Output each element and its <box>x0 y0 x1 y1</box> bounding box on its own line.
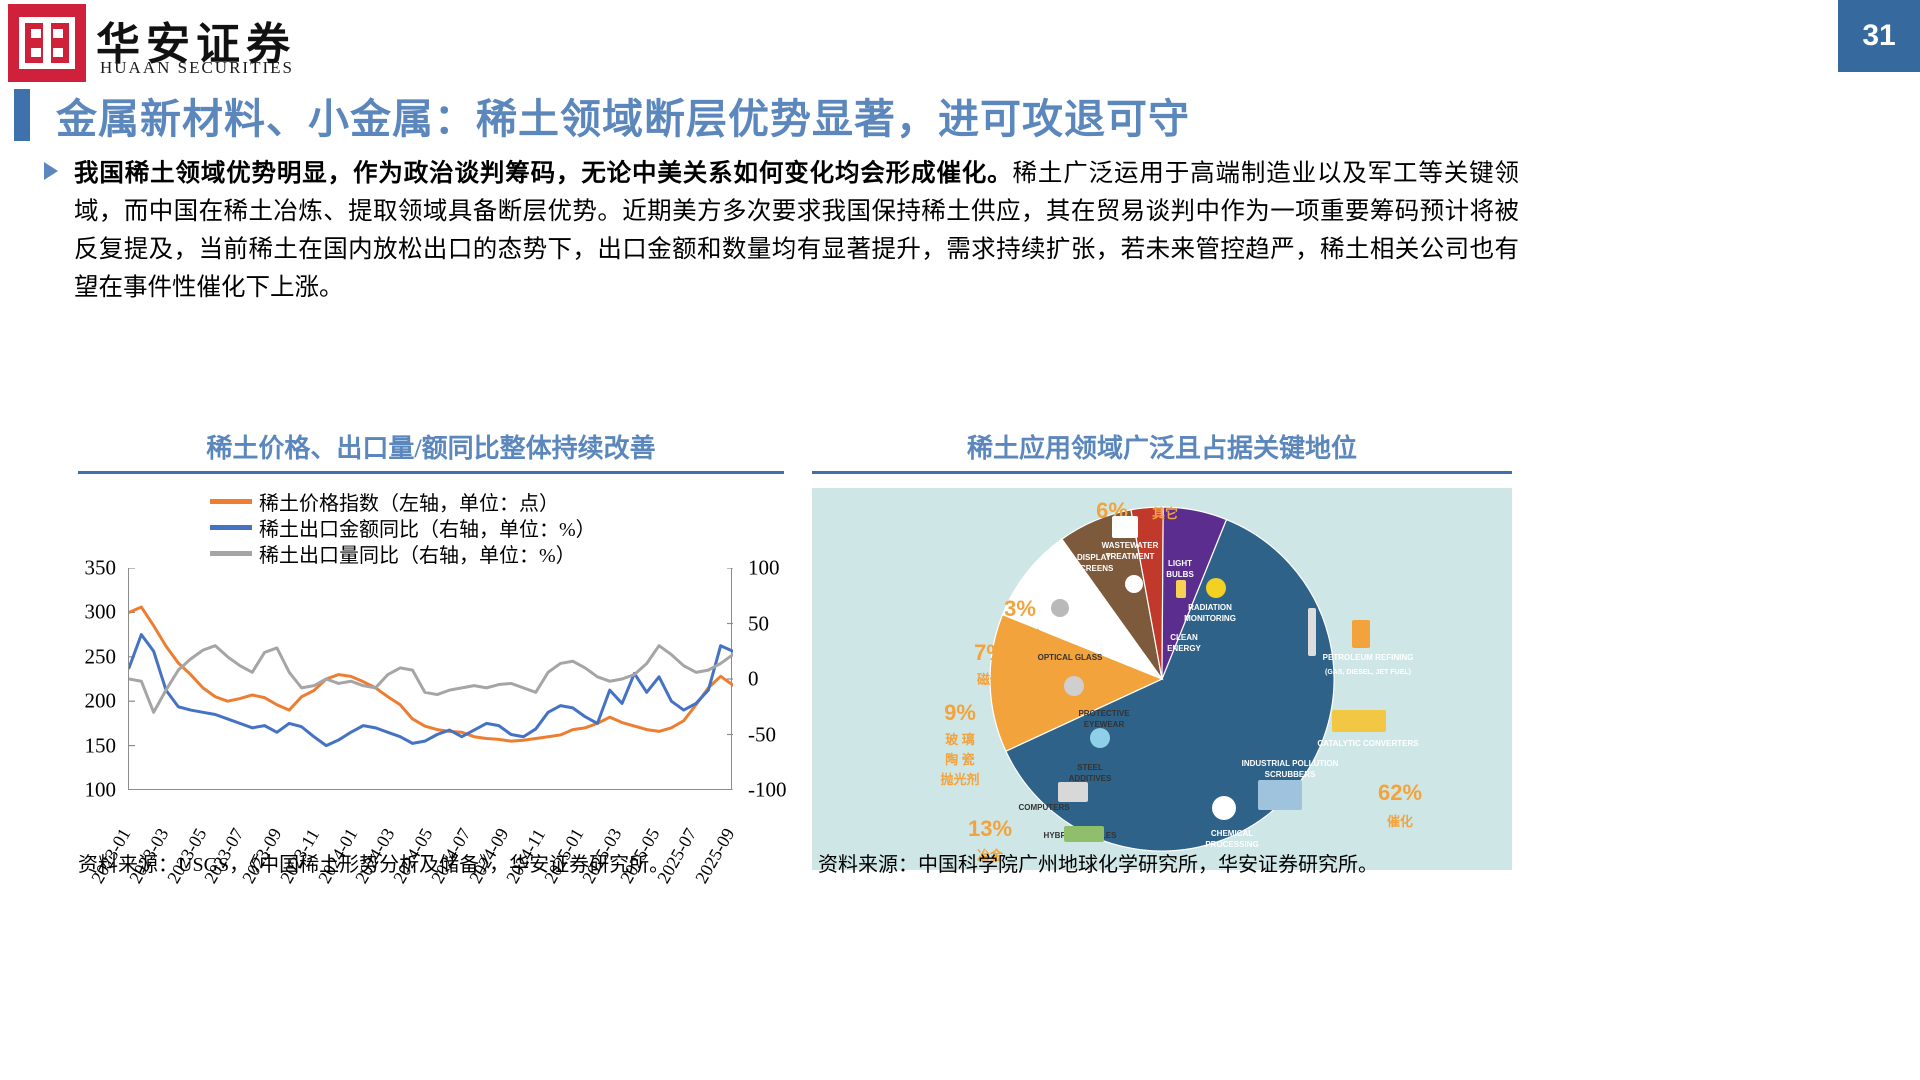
callout-label: PETROLEUM REFINING <box>1323 653 1414 662</box>
legend-swatch-export-volume <box>210 551 252 556</box>
chart-legend: 稀土价格指数（左轴，单位：点） 稀土出口金额同比（右轴，单位：%） 稀土出口量同… <box>210 488 596 566</box>
callout-label: ADDITIVES <box>1069 774 1112 783</box>
y-axis-right-labels: 100500-50-100 <box>738 568 784 790</box>
optical-glass-icon <box>1064 676 1084 696</box>
body-paragraph: 我国稀土领域优势明显，作为政治谈判筹码，无论中美关系如何变化均会形成催化。稀土广… <box>74 155 1519 307</box>
callout-label: STEEL <box>1077 763 1103 772</box>
slide-title-row: 金属新材料、小金属：稀土领域断层优势显著，进可攻退可守 <box>14 88 1894 142</box>
callout-label: TREATMENT <box>1106 552 1155 561</box>
eyewear-icon <box>1090 728 1110 748</box>
infographic-svg: 3%荧光剂7%磁体9%玻 璃陶 瓷抛光剂13%冶金6%其它62%催化WASTEW… <box>812 488 1512 870</box>
cn-label-glass-1: 玻 璃 <box>945 732 975 747</box>
page-title: 金属新材料、小金属：稀土领域断层优势显著，进可攻退可守 <box>56 85 1190 145</box>
right-source-note: 资料来源：中国科学院广州地球化学研究所，华安证券研究所。 <box>818 848 1378 877</box>
legend-label-export-volume: 稀土出口量同比（右轴，单位：%） <box>259 539 576 568</box>
huaan-logo-mark <box>8 4 86 82</box>
y-tick-left: 250 <box>85 644 117 669</box>
callout-label: ELECTRONICS <box>1035 584 1093 593</box>
body-bullet-block: 我国稀土领域优势明显，作为政治谈判筹码，无论中美关系如何变化均会形成催化。稀土广… <box>44 155 1519 307</box>
display-screen-icon <box>1112 516 1138 538</box>
right-panel-rule <box>812 471 1512 474</box>
slide-header: 华安证券 HUAAN SECURITIES 31 <box>0 0 1920 86</box>
y-tick-right: -100 <box>748 778 787 803</box>
series-line <box>129 646 733 713</box>
oil-derrick-icon <box>1308 608 1316 656</box>
satellite-icon <box>1051 599 1069 617</box>
y-tick-left: 100 <box>85 778 117 803</box>
logo-company-name-en: HUAAN SECURITIES <box>100 58 294 78</box>
callout-label: PROTECTIVE <box>1078 709 1130 718</box>
y-tick-left: 300 <box>85 600 117 625</box>
chart-series-svg <box>129 568 733 790</box>
left-chart-panel: 稀土价格、出口量/额同比整体持续改善 稀土价格指数（左轴，单位：点） 稀土出口金… <box>78 428 784 870</box>
callout-label: WASTEWATER <box>1102 541 1159 550</box>
cn-label-magnet: 磁体 <box>977 672 1004 687</box>
legend-swatch-price <box>210 499 252 504</box>
right-infographic-panel: 稀土应用领域广泛且占据关键地位 3%荧光剂7%磁体9%玻 璃陶 瓷抛光剂13%冶… <box>812 428 1512 870</box>
computer-icon <box>1058 782 1088 802</box>
factory-icon <box>1258 780 1302 810</box>
light-bulb-icon <box>1176 580 1186 598</box>
y-tick-right: -50 <box>748 722 776 747</box>
legend-swatch-export-value <box>210 525 252 530</box>
callout-label: CHEMICAL <box>1211 829 1253 838</box>
callout-label: MONITORING <box>1184 614 1236 623</box>
y-tick-left: 200 <box>85 689 117 714</box>
y-axis-left-labels: 350300250200150100 <box>78 568 124 790</box>
y-tick-left: 350 <box>85 556 117 581</box>
pct-label-magnet: 7% <box>974 640 1006 665</box>
cn-label-glass-2: 陶 瓷 <box>945 752 975 767</box>
callout-label: OPTICAL GLASS <box>1038 653 1103 662</box>
legend-item-price: 稀土价格指数（左轴，单位：点） <box>210 488 596 514</box>
pct-label-metallurgy: 13% <box>968 816 1012 841</box>
catalytic-converter-icon <box>1332 710 1386 732</box>
callout-label: ENERGY <box>1167 644 1201 653</box>
callout-label: DISPLAY <box>1077 553 1112 562</box>
callout-label: LIGHT <box>1168 559 1192 568</box>
left-panel-title: 稀土价格、出口量/额同比整体持续改善 <box>78 428 784 465</box>
left-source-note: 资料来源：USGS，《中国稀土形势分析及储备》，华安证券研究所。 <box>78 848 669 877</box>
callout-label: COMPUTERS <box>1018 803 1070 812</box>
y-tick-right: 0 <box>748 667 759 692</box>
callout-label: RADIATION <box>1188 603 1232 612</box>
legend-label-export-value: 稀土出口金额同比（右轴，单位：%） <box>259 513 596 542</box>
y-tick-right: 50 <box>748 611 769 636</box>
callout-label: CATALYTIC CONVERTERS <box>1317 739 1419 748</box>
chart-plot-wrap: 350300250200150100 100500-50-100 2023-01… <box>78 568 784 790</box>
cn-label-glass-3: 抛光剂 <box>940 772 979 787</box>
callout-label: CLEAN <box>1170 633 1198 642</box>
callout-label: EYEWEAR <box>1084 720 1125 729</box>
title-accent-bar <box>14 89 30 141</box>
pct-label-phosphor: 3% <box>1004 596 1036 621</box>
hybrid-vehicle-icon <box>1064 826 1104 842</box>
cn-label-other: 其它 <box>1152 506 1178 521</box>
callout-label: (GAS, DIESEL, JET FUEL) <box>1325 669 1411 676</box>
callout-label: SCREENS <box>1075 564 1114 573</box>
page-number-badge: 31 <box>1838 0 1920 72</box>
bullet-arrow-icon <box>44 162 58 180</box>
pct-label-glass: 9% <box>944 700 976 725</box>
radiation-icon <box>1206 578 1226 598</box>
legend-label-price: 稀土价格指数（左轴，单位：点） <box>259 487 559 516</box>
callout-label: SATELLITE <box>1043 573 1087 582</box>
rare-earth-applications-infographic: 3%荧光剂7%磁体9%玻 璃陶 瓷抛光剂13%冶金6%其它62%催化WASTEW… <box>812 488 1512 870</box>
pct-label-catalysis: 62% <box>1378 780 1422 805</box>
y-tick-left: 150 <box>85 733 117 758</box>
logo-seal-glyph <box>19 15 75 71</box>
cn-label-catalysis: 催化 <box>1387 814 1413 829</box>
chart-plot-area <box>128 568 732 790</box>
callout-label: INDUSTRIAL POLLUTION <box>1242 759 1339 768</box>
right-panel-title: 稀土应用领域广泛且占据关键地位 <box>812 428 1512 465</box>
legend-item-export-value: 稀土出口金额同比（右轴，单位：%） <box>210 514 596 540</box>
y-tick-right: 100 <box>748 556 780 581</box>
water-drop-icon <box>1125 575 1143 593</box>
body-lead-sentence: 我国稀土领域优势明显，作为政治谈判筹码，无论中美关系如何变化均会形成催化。 <box>74 160 1013 187</box>
left-panel-rule <box>78 471 784 474</box>
rare-earth-line-chart: 稀土价格指数（左轴，单位：点） 稀土出口金额同比（右轴，单位：%） 稀土出口量同… <box>78 480 784 870</box>
callout-label: BULBS <box>1166 570 1194 579</box>
cn-label-phosphor: 荧光剂 <box>1000 628 1039 643</box>
series-line <box>129 607 733 741</box>
flask-icon <box>1212 796 1236 820</box>
callout-label: SCRUBBERS <box>1265 770 1316 779</box>
legend-item-export-volume: 稀土出口量同比（右轴，单位：%） <box>210 540 596 566</box>
fuel-pump-icon <box>1352 620 1370 648</box>
